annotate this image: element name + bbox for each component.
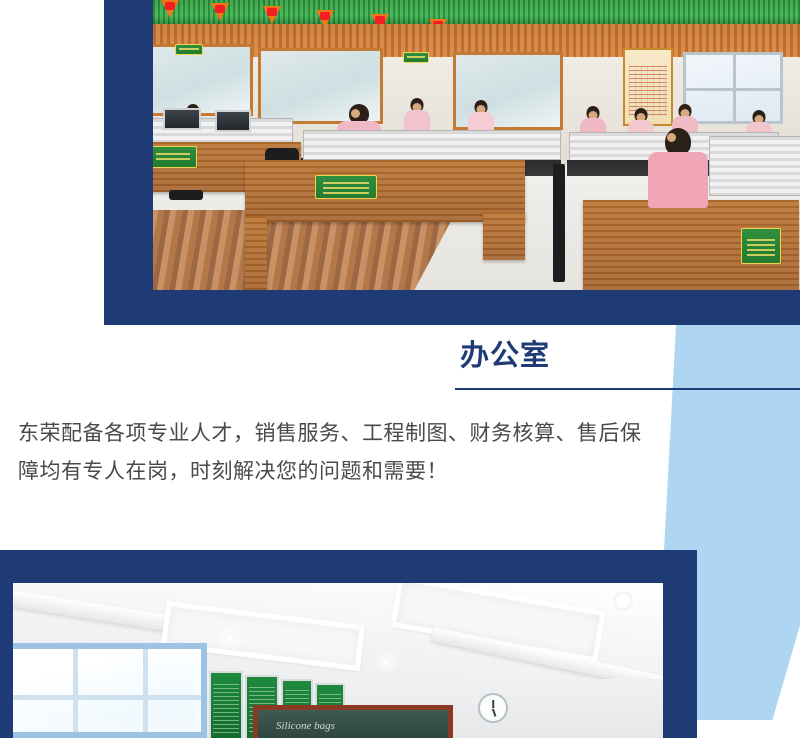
department-sign (153, 146, 197, 168)
cubicle-partition (303, 130, 561, 160)
wall-clock-icon (478, 693, 508, 723)
desk-panel (245, 216, 267, 290)
computer-monitor (215, 110, 251, 132)
title-underline (455, 388, 800, 390)
promo-page: 办公室 东荣配备各项专业人才，销售服务、工程制图、财务核算、售后保 障均有专人在… (0, 0, 800, 738)
section-title: 办公室 (460, 342, 550, 371)
desk-panel (483, 212, 525, 260)
floor-carpet (153, 210, 457, 290)
bunting-flag-icon (161, 0, 179, 18)
window-mullion (143, 649, 148, 732)
body-line-2: 障均有专人在岗，时刻解决您的问题和需要！ (18, 453, 793, 491)
green-ceiling (153, 0, 800, 26)
bunting-flag-icon (211, 3, 229, 21)
chalk-writing: Silicone bags (276, 720, 335, 732)
meeting-room-ceiling-photo: Silicone bags (13, 583, 663, 738)
green-notice-board (209, 671, 243, 738)
cubicle-partition (709, 136, 800, 196)
office-worker-foreground (643, 128, 713, 208)
department-sign (315, 175, 377, 199)
recessed-light-icon (225, 633, 235, 643)
bunting-flag-icon (263, 6, 281, 24)
room-window (13, 643, 207, 738)
recessed-light-icon (613, 591, 633, 611)
computer-monitor (163, 108, 201, 130)
recessed-light-icon (381, 657, 391, 667)
section-body-copy: 东荣配备各项专业人才，销售服务、工程制图、财务核算、售后保 障均有专人在岗，时刻… (18, 415, 793, 491)
chair-back (553, 164, 565, 282)
office-cubicles-photo (153, 0, 800, 290)
office-chair (169, 190, 203, 200)
window-mullion (13, 695, 201, 700)
window-mullion (73, 649, 78, 732)
door-sign (403, 52, 429, 63)
worker-torso (648, 152, 708, 208)
body-line-1: 东荣配备各项专业人才，销售服务、工程制图、财务核算、售后保 (18, 415, 793, 453)
door-sign (175, 44, 203, 55)
blackboard: Silicone bags (253, 705, 453, 738)
department-sign (741, 228, 781, 264)
